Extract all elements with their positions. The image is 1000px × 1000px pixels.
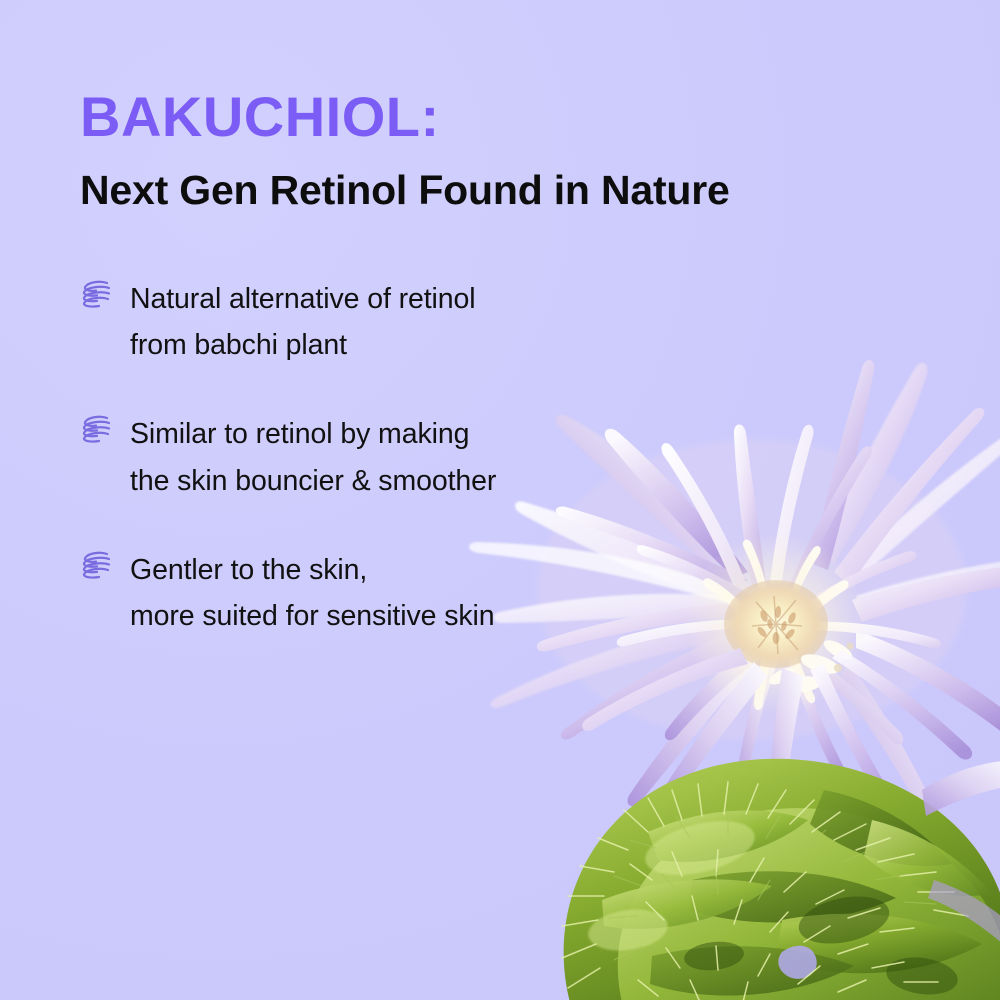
coil-icon xyxy=(80,414,114,446)
content-block: BAKUCHIOL: Next Gen Retinol Found in Nat… xyxy=(80,88,850,639)
list-item-label: Similar to retinol by making the skin bo… xyxy=(130,411,496,503)
benefit-list: Natural alternative of retinol from babc… xyxy=(80,276,850,639)
coil-icon xyxy=(80,279,114,311)
poster-canvas: BAKUCHIOL: Next Gen Retinol Found in Nat… xyxy=(0,0,1000,1000)
coil-icon xyxy=(80,550,114,582)
page-subtitle: Next Gen Retinol Found in Nature xyxy=(80,168,850,214)
list-item: Gentler to the skin, more suited for sen… xyxy=(80,547,850,639)
list-item-label: Natural alternative of retinol from babc… xyxy=(130,276,476,368)
list-item: Natural alternative of retinol from babc… xyxy=(80,276,850,368)
list-item-label: Gentler to the skin, more suited for sen… xyxy=(130,547,494,639)
page-title: BAKUCHIOL: xyxy=(80,88,850,146)
list-item: Similar to retinol by making the skin bo… xyxy=(80,411,850,503)
